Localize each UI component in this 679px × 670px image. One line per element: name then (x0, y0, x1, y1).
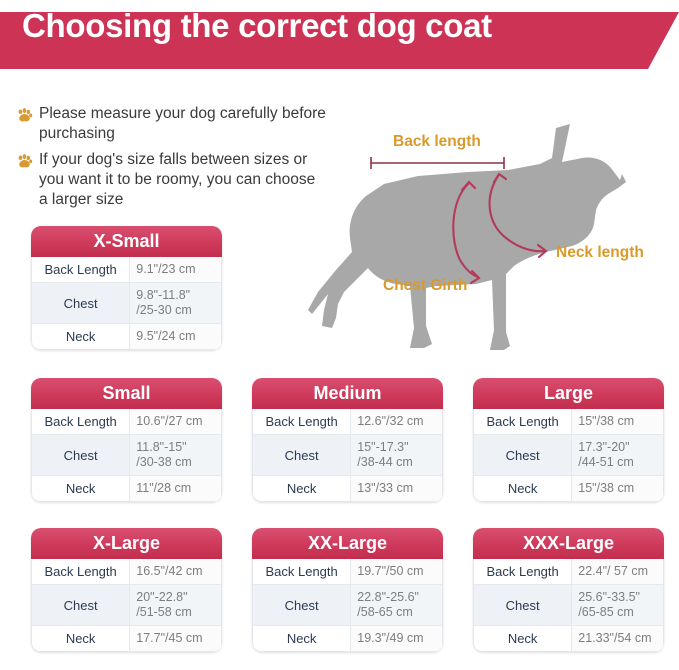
row-value: 15"/38 cm (572, 409, 663, 434)
size-table-x-small: X-Small Back Length 9.1"/23 cm Chest 9.8… (31, 226, 222, 350)
size-table-small: Small Back Length 10.6"/27 cm Chest 11.8… (31, 378, 222, 502)
row-label: Back Length (253, 559, 351, 584)
row-value: 17.7"/45 cm (130, 626, 221, 651)
row-label: Back Length (474, 409, 572, 434)
table-row: Neck 17.7"/45 cm (32, 626, 221, 651)
row-value: 12.6"/32 cm (351, 409, 442, 434)
row-value: 16.5"/42 cm (130, 559, 221, 584)
size-table-body: Back Length 19.7"/50 cm Chest 22.8"-25.6… (252, 559, 443, 652)
size-table-header: X-Small (31, 226, 222, 257)
table-row: Back Length 9.1"/23 cm (32, 257, 221, 283)
row-label: Chest (32, 585, 130, 625)
row-value: 19.3"/49 cm (351, 626, 442, 651)
row-label: Back Length (32, 409, 130, 434)
table-row: Chest 9.8"-11.8" /25-30 cm (32, 283, 221, 324)
row-value: 9.5"/24 cm (130, 324, 221, 349)
row-label: Neck (32, 324, 130, 349)
row-label: Chest (474, 585, 572, 625)
row-value: 9.1"/23 cm (130, 257, 221, 282)
table-row: Back Length 10.6"/27 cm (32, 409, 221, 435)
row-label: Back Length (474, 559, 572, 584)
size-table-xxx-large: XXX-Large Back Length 22.4"/ 57 cm Chest… (473, 528, 664, 652)
size-table-header: Medium (252, 378, 443, 409)
size-table-header: Small (31, 378, 222, 409)
row-value: 20"-22.8" /51-58 cm (130, 585, 221, 625)
table-row: Back Length 16.5"/42 cm (32, 559, 221, 585)
table-row: Chest 15"-17.3" /38-44 cm (253, 435, 442, 476)
chest-girth-label: Chest Girth (383, 277, 467, 294)
row-label: Neck (32, 626, 130, 651)
size-table-body: Back Length 22.4"/ 57 cm Chest 25.6"-33.… (473, 559, 664, 652)
row-value: 17.3"-20" /44-51 cm (572, 435, 663, 475)
row-value: 22.8"-25.6" /58-65 cm (351, 585, 442, 625)
note-text: If your dog's size falls between sizes o… (39, 150, 328, 210)
row-value: 15"-17.3" /38-44 cm (351, 435, 442, 475)
table-row: Neck 9.5"/24 cm (32, 324, 221, 349)
row-value: 10.6"/27 cm (130, 409, 221, 434)
row-label: Neck (474, 626, 572, 651)
paw-print-icon (16, 107, 33, 124)
page-title: Choosing the correct dog coat (22, 7, 492, 45)
table-row: Neck 21.33"/54 cm (474, 626, 663, 651)
row-label: Chest (253, 585, 351, 625)
size-table-xx-large: XX-Large Back Length 19.7"/50 cm Chest 2… (252, 528, 443, 652)
row-label: Chest (474, 435, 572, 475)
back-length-arrow-icon (371, 157, 504, 169)
size-table-body: Back Length 16.5"/42 cm Chest 20"-22.8" … (31, 559, 222, 652)
table-row: Chest 22.8"-25.6" /58-65 cm (253, 585, 442, 626)
table-row: Chest 11.8"-15" /30-38 cm (32, 435, 221, 476)
size-table-body: Back Length 15"/38 cm Chest 17.3"-20" /4… (473, 409, 664, 502)
table-row: Neck 11"/28 cm (32, 476, 221, 501)
row-label: Neck (253, 626, 351, 651)
size-table-body: Back Length 9.1"/23 cm Chest 9.8"-11.8" … (31, 257, 222, 350)
row-value: 9.8"-11.8" /25-30 cm (130, 283, 221, 323)
size-table-header: XXX-Large (473, 528, 664, 559)
row-label: Neck (32, 476, 130, 501)
note-text: Please measure your dog carefully before… (39, 104, 328, 144)
note-item: If your dog's size falls between sizes o… (16, 150, 328, 210)
back-length-label: Back length (393, 133, 481, 150)
table-row: Neck 13"/33 cm (253, 476, 442, 501)
size-table-large: Large Back Length 15"/38 cm Chest 17.3"-… (473, 378, 664, 502)
row-label: Chest (32, 435, 130, 475)
table-row: Chest 17.3"-20" /44-51 cm (474, 435, 663, 476)
row-value: 19.7"/50 cm (351, 559, 442, 584)
table-row: Back Length 15"/38 cm (474, 409, 663, 435)
table-row: Neck 19.3"/49 cm (253, 626, 442, 651)
neck-length-label: Neck length (556, 244, 644, 261)
note-item: Please measure your dog carefully before… (16, 104, 328, 144)
row-value: 25.6"-33.5" /65-85 cm (572, 585, 663, 625)
size-table-body: Back Length 10.6"/27 cm Chest 11.8"-15" … (31, 409, 222, 502)
row-label: Back Length (32, 559, 130, 584)
size-table-header: Large (473, 378, 664, 409)
row-label: Back Length (32, 257, 130, 282)
size-table-medium: Medium Back Length 12.6"/32 cm Chest 15"… (252, 378, 443, 502)
row-label: Chest (253, 435, 351, 475)
table-row: Back Length 22.4"/ 57 cm (474, 559, 663, 585)
size-table-body: Back Length 12.6"/32 cm Chest 15"-17.3" … (252, 409, 443, 502)
row-label: Neck (474, 476, 572, 501)
row-value: 21.33"/54 cm (572, 626, 663, 651)
row-label: Neck (253, 476, 351, 501)
size-table-header: X-Large (31, 528, 222, 559)
row-value: 15"/38 cm (572, 476, 663, 501)
dog-measurement-diagram: Back length Neck length Chest Girth (308, 118, 679, 370)
row-value: 11.8"-15" /30-38 cm (130, 435, 221, 475)
row-label: Back Length (253, 409, 351, 434)
dog-silhouette-icon (308, 124, 626, 350)
measurement-notes: Please measure your dog carefully before… (16, 104, 328, 216)
row-value: 13"/33 cm (351, 476, 442, 501)
row-value: 22.4"/ 57 cm (572, 559, 663, 584)
row-label: Chest (32, 283, 130, 323)
table-row: Back Length 12.6"/32 cm (253, 409, 442, 435)
paw-print-icon (16, 153, 33, 170)
table-row: Back Length 19.7"/50 cm (253, 559, 442, 585)
table-row: Neck 15"/38 cm (474, 476, 663, 501)
table-row: Chest 20"-22.8" /51-58 cm (32, 585, 221, 626)
row-value: 11"/28 cm (130, 476, 221, 501)
size-table-header: XX-Large (252, 528, 443, 559)
size-table-x-large: X-Large Back Length 16.5"/42 cm Chest 20… (31, 528, 222, 652)
table-row: Chest 25.6"-33.5" /65-85 cm (474, 585, 663, 626)
